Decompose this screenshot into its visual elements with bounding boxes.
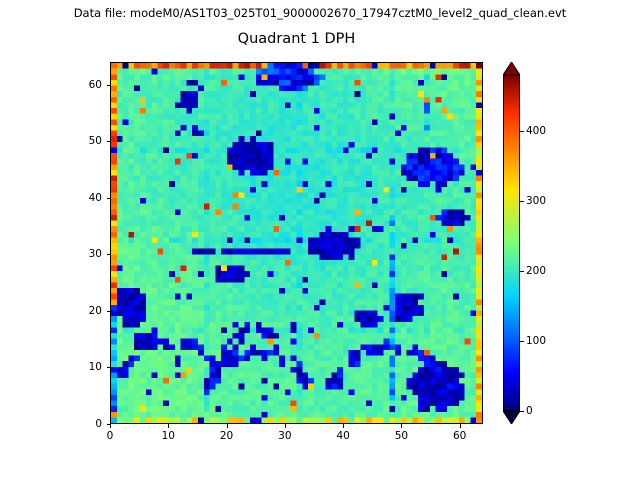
y-tick-mark xyxy=(107,85,111,86)
colorbar-tick-label: 0 xyxy=(526,405,533,417)
figure-canvas: Data file: modeM0/AS1T03_025T01_90000026… xyxy=(0,0,640,480)
colorbar-tick-label: 100 xyxy=(526,335,546,347)
x-tick-mark xyxy=(227,424,228,428)
colorbar-over-arrow xyxy=(503,62,520,75)
y-tick-mark xyxy=(107,311,111,312)
colorbar-tick-mark xyxy=(520,131,524,132)
x-tick-mark xyxy=(401,424,402,428)
x-tick-label: 0 xyxy=(107,430,114,442)
y-tick-label: 50 xyxy=(70,135,102,147)
colorbar-body xyxy=(503,75,520,411)
colorbar-tick-mark xyxy=(520,201,524,202)
y-tick-label: 0 xyxy=(70,418,102,430)
y-tick-mark xyxy=(107,198,111,199)
y-tick-label: 10 xyxy=(70,361,102,373)
x-tick-label: 40 xyxy=(336,430,349,442)
colorbar-tick-label: 200 xyxy=(526,265,546,277)
y-tick-mark xyxy=(107,141,111,142)
y-tick-mark xyxy=(107,424,111,425)
x-tick-label: 30 xyxy=(278,430,291,442)
x-tick-label: 50 xyxy=(395,430,408,442)
figure-suptitle: Data file: modeM0/AS1T03_025T01_90000026… xyxy=(0,6,640,20)
y-tick-mark xyxy=(107,367,111,368)
colorbar-tick-mark xyxy=(520,271,524,272)
colorbar-tick-label: 300 xyxy=(526,195,546,207)
x-tick-mark xyxy=(168,424,169,428)
x-tick-mark xyxy=(285,424,286,428)
y-tick-mark xyxy=(107,254,111,255)
y-tick-label: 40 xyxy=(70,192,102,204)
y-tick-label: 20 xyxy=(70,305,102,317)
x-tick-mark xyxy=(343,424,344,428)
colorbar-tick-mark xyxy=(520,341,524,342)
y-tick-label: 60 xyxy=(70,79,102,91)
heatmap-image xyxy=(111,63,482,423)
x-tick-mark xyxy=(460,424,461,428)
colorbar-under-arrow xyxy=(503,411,520,424)
colorbar-tick-label: 400 xyxy=(526,125,546,137)
colorbar[interactable]: 0100200300400 xyxy=(503,62,520,424)
heatmap-axes[interactable] xyxy=(110,62,483,424)
colorbar-gradient xyxy=(504,76,519,410)
x-tick-label: 10 xyxy=(162,430,175,442)
x-tick-label: 60 xyxy=(453,430,466,442)
colorbar-tick-mark xyxy=(520,411,524,412)
y-tick-label: 30 xyxy=(70,248,102,260)
x-tick-mark xyxy=(110,424,111,428)
x-tick-label: 20 xyxy=(220,430,233,442)
axes-title: Quadrant 1 DPH xyxy=(110,31,483,47)
